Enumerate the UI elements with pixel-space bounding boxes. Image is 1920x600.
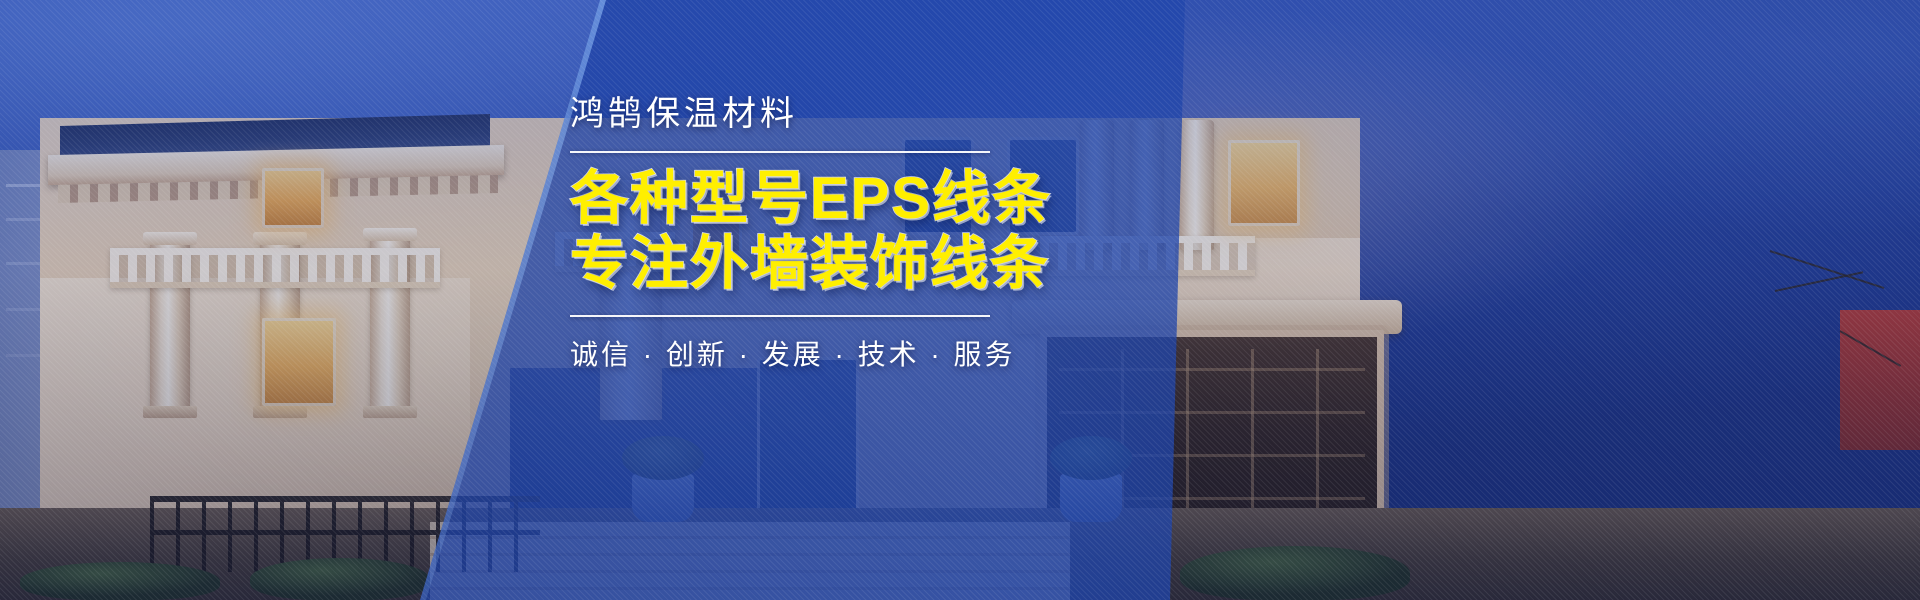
divider-top [570, 151, 990, 153]
divider-bottom [570, 315, 990, 317]
company-name: 鸿鹄保温材料 [570, 96, 1190, 133]
tagline: 诚信 · 创新 · 发展 · 技术 · 服务 [570, 333, 1190, 373]
banner-content: 鸿鹄保温材料 各种型号EPS线条 专注外墙装饰线条 诚信 · 创新 · 发展 ·… [570, 96, 1190, 373]
headline-line-2: 专注外墙装饰线条 [570, 232, 1190, 297]
headline-line-1: 各种型号EPS线条 [570, 167, 1190, 232]
promo-banner: 鸿鹄保温材料 各种型号EPS线条 专注外墙装饰线条 诚信 · 创新 · 发展 ·… [0, 0, 1920, 600]
